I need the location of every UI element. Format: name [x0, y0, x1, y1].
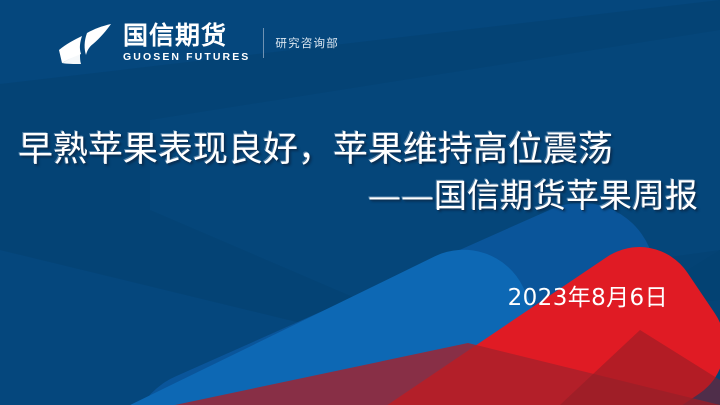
page-subtitle: ——国信期货苹果周报 [18, 175, 698, 218]
dark-red-triangle-2 [560, 330, 720, 405]
guosen-wave-mark-icon [56, 20, 114, 66]
dark-red-triangle [175, 343, 720, 405]
logo-divider [263, 28, 264, 58]
presentation-cover-slide: 国信期货 GUOSEN FUTURES 研究咨询部 早熟苹果表现良好，苹果维持高… [0, 0, 720, 405]
title-block: 早熟苹果表现良好，苹果维持高位震荡 ——国信期货苹果周报 [0, 128, 720, 218]
navy-corner-band [470, 250, 720, 405]
logo-wordmark: 国信期货 GUOSEN FUTURES [123, 23, 250, 64]
page-title: 早熟苹果表现良好，苹果维持高位震荡 [18, 128, 698, 173]
publish-date: 2023年8月6日 [508, 287, 668, 310]
logo-company-en: GUOSEN FUTURES [123, 51, 250, 64]
brand-logo: 国信期货 GUOSEN FUTURES 研究咨询部 [56, 17, 339, 69]
logo-department: 研究咨询部 [275, 35, 339, 51]
logo-company-cn: 国信期货 [123, 23, 250, 49]
light-blue-rounded-rect [72, 227, 578, 405]
bright-red-rounded-rect [323, 225, 720, 405]
